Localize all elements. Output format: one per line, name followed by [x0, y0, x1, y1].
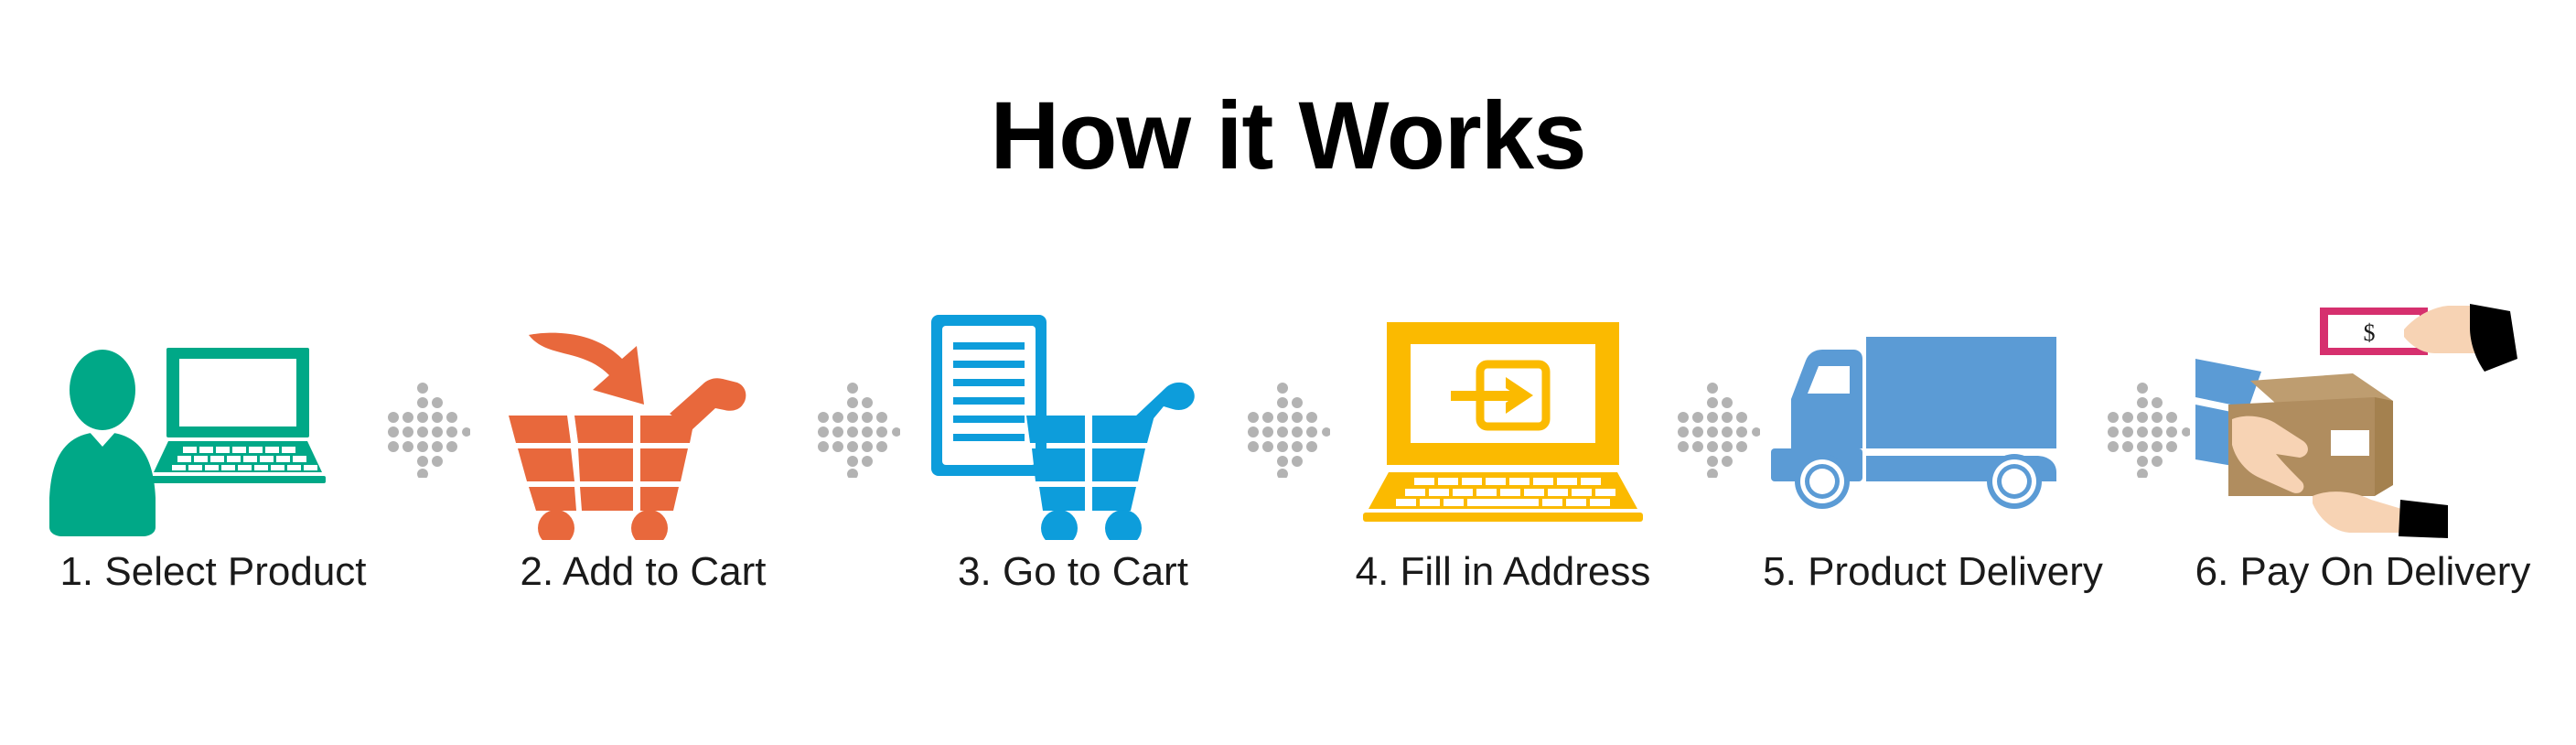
how-it-works-infographic: How it Works [0, 0, 2576, 745]
step-6-pay-on-delivery[interactable]: $ [2195, 302, 2530, 650]
step-1-select-product[interactable]: 1. Select Product [46, 302, 381, 650]
step-3-go-to-cart[interactable]: 3. Go to Cart [906, 302, 1240, 650]
step-4-label: 4. Fill in Address [1356, 551, 1651, 593]
steps-row: 1. Select Product [46, 302, 2530, 650]
dotted-arrow-right-icon [1676, 368, 1760, 606]
person-at-laptop-icon [46, 302, 381, 540]
step-2-add-to-cart[interactable]: 2. Add to Cart [476, 302, 810, 650]
page-title: How it Works [0, 88, 2576, 184]
step-1-label: 1. Select Product [59, 551, 366, 593]
step-6-label: 6. Pay On Delivery [2195, 551, 2531, 593]
dotted-arrow-right-icon [816, 368, 900, 606]
arrow-into-shopping-cart-icon [476, 302, 810, 540]
dotted-arrow-right-icon [1246, 368, 1330, 606]
step-5-product-delivery[interactable]: 5. Product Delivery [1766, 302, 2100, 650]
step-5-label: 5. Product Delivery [1763, 551, 2103, 593]
document-with-shopping-cart-icon [906, 302, 1240, 540]
step-4-fill-in-address[interactable]: 4. Fill in Address [1336, 302, 1670, 650]
dotted-arrow-right-icon [2106, 368, 2190, 606]
delivery-truck-icon [1766, 302, 2100, 540]
hand-receiving [2313, 491, 2448, 538]
money-symbol: $ [2364, 319, 2376, 346]
step-2-label: 2. Add to Cart [520, 551, 766, 593]
hands-exchanging-box-and-money-icon: $ [2195, 302, 2530, 540]
dotted-arrow-right-icon [386, 368, 470, 606]
laptop-login-arrow-icon [1336, 302, 1670, 540]
step-3-label: 3. Go to Cart [958, 551, 1188, 593]
